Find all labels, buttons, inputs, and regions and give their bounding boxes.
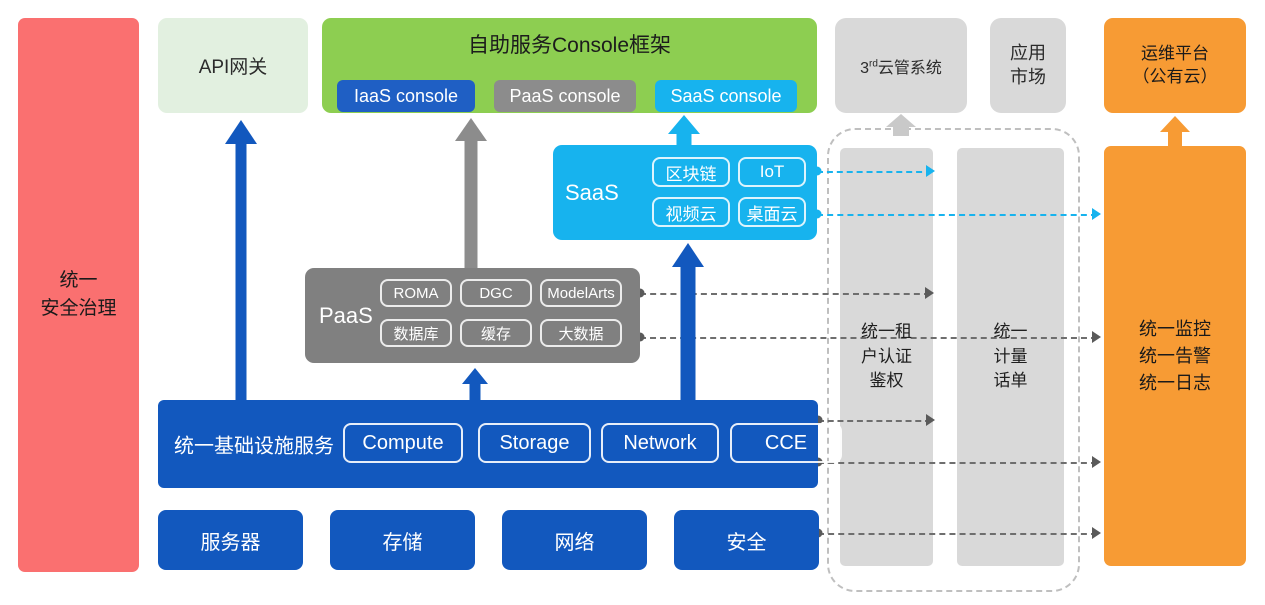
column-auth-line2: 户认证 — [861, 347, 912, 366]
saas-service-desktop-cloud[interactable]: 桌面云 — [738, 197, 806, 227]
paas-service-label: ModelArts — [547, 285, 615, 302]
paas-service-database[interactable]: 数据库 — [380, 319, 452, 347]
infra-service-label: CCE — [765, 432, 807, 455]
resource-tile-label: 网络 — [555, 526, 595, 555]
ops-platform-header-box: 运维平台 （公有云） — [1104, 18, 1246, 113]
app-market-line1: 应用 — [1010, 43, 1046, 63]
saas-service-video-cloud[interactable]: 视频云 — [652, 197, 730, 227]
console-chip-paas[interactable]: PaaS console — [494, 80, 636, 112]
app-market-box: 应用 市场 — [990, 18, 1066, 113]
paas-service-label: 数据库 — [393, 323, 438, 344]
infra-service-label: Storage — [499, 432, 569, 455]
resource-tile-security[interactable]: 安全 — [674, 510, 819, 570]
infra-service-label: Network — [623, 432, 696, 455]
column-meter-line3: 话单 — [994, 371, 1028, 390]
connector-resources-to-ops — [818, 533, 1097, 535]
infra-service-label: Compute — [362, 432, 443, 455]
api-gateway-box: API网关 — [158, 18, 308, 113]
ops-body-text: 统一监控 统一告警 统一日志 — [1139, 316, 1211, 397]
arrow-ops-body-to-head — [1159, 116, 1191, 146]
infra-service-network[interactable]: Network — [601, 423, 719, 463]
console-chip-iaas-label: IaaS console — [354, 86, 458, 107]
saas-service-label: 视频云 — [666, 200, 717, 225]
architecture-diagram: 统一租 户认证 鉴权 统一 计量 话单 — [0, 0, 1265, 605]
resource-tile-storage[interactable]: 存储 — [330, 510, 475, 570]
column-auth-line1: 统一租 — [861, 322, 912, 341]
column-meter-line1: 统一 — [994, 322, 1028, 341]
ops-head-line2: （公有云） — [1133, 67, 1218, 86]
paas-service-label: 大数据 — [558, 323, 603, 344]
paas-service-modelarts[interactable]: ModelArts — [540, 279, 622, 307]
column-meter-text: 统一 计量 话单 — [994, 320, 1028, 394]
saas-service-label: IoT — [760, 162, 785, 182]
resource-tile-network[interactable]: 网络 — [502, 510, 647, 570]
paas-service-label: 缓存 — [481, 323, 511, 344]
connector-saas-to-auth — [817, 171, 932, 173]
saas-service-blockchain[interactable]: 区块链 — [652, 157, 730, 187]
connector-saas-to-ops — [817, 214, 1097, 216]
connector-arrowhead — [1092, 527, 1101, 539]
paas-layer-box: PaaS ROMA DGC ModelArts 数据库 缓存 大数据 — [305, 268, 640, 363]
saas-layer-label: SaaS — [565, 180, 619, 206]
connector-arrowhead — [1092, 331, 1101, 343]
console-chip-paas-label: PaaS console — [509, 86, 620, 107]
infra-service-cce[interactable]: CCE — [730, 423, 842, 463]
saas-service-iot[interactable]: IoT — [738, 157, 806, 187]
console-chip-saas-label: SaaS console — [670, 86, 781, 107]
paas-service-bigdata[interactable]: 大数据 — [540, 319, 622, 347]
resource-tile-label: 存储 — [383, 526, 423, 555]
paas-service-dgc[interactable]: DGC — [460, 279, 532, 307]
security-panel-text: 统一 安全治理 — [40, 267, 116, 322]
connector-infra-to-ops — [818, 462, 1097, 464]
infrastructure-label: 统一基础设施服务 — [174, 430, 334, 459]
arrow-paas-to-console — [455, 118, 487, 270]
third-party-cloud-management-box: 3rd云管系统 — [835, 18, 967, 113]
arrow-infra-to-api-gateway — [225, 120, 257, 402]
saas-service-label: 桌面云 — [747, 200, 798, 225]
unified-infrastructure-service-bar: 统一基础设施服务 Compute Storage Network CCE — [158, 400, 818, 488]
console-chip-saas[interactable]: SaaS console — [655, 80, 797, 112]
column-unified-tenant-auth: 统一租 户认证 鉴权 — [840, 148, 933, 566]
ops-platform-body-panel: 统一监控 统一告警 统一日志 — [1104, 146, 1246, 566]
resource-tile-server[interactable]: 服务器 — [158, 510, 303, 570]
paas-service-label: DGC — [479, 285, 512, 302]
ops-head-text: 运维平台 （公有云） — [1133, 43, 1218, 89]
saas-layer-box: SaaS 区块链 IoT 视频云 桌面云 — [553, 145, 817, 240]
paas-service-roma[interactable]: ROMA — [380, 279, 452, 307]
arrow-saas-to-console — [668, 115, 700, 148]
column-meter-line2: 计量 — [994, 347, 1028, 366]
infra-service-compute[interactable]: Compute — [343, 423, 463, 463]
connector-infra-to-auth — [818, 420, 931, 422]
arrow-infra-to-saas — [672, 243, 704, 403]
console-chip-iaas[interactable]: IaaS console — [337, 80, 475, 112]
ops-body-line1: 统一监控 — [1139, 319, 1211, 339]
ops-body-line3: 统一日志 — [1139, 373, 1211, 393]
connector-arrowhead — [1092, 208, 1101, 220]
arrow-infra-to-paas — [462, 368, 488, 402]
paas-service-label: ROMA — [394, 285, 439, 302]
third-party-prefix: 3 — [860, 60, 869, 77]
api-gateway-label: API网关 — [199, 52, 268, 79]
resource-tile-label: 服务器 — [201, 526, 261, 555]
security-panel-line2: 安全治理 — [40, 298, 116, 319]
connector-arrowhead — [1092, 456, 1101, 468]
column-unified-metering-billing: 统一 计量 话单 — [957, 148, 1064, 566]
console-framework-title: 自助服务Console框架 — [322, 29, 817, 59]
app-market-text: 应用 市场 — [1010, 42, 1046, 89]
connector-arrowhead — [925, 287, 934, 299]
third-party-superscript: rd — [869, 58, 878, 69]
saas-service-label: 区块链 — [666, 160, 717, 185]
column-auth-text: 统一租 户认证 鉴权 — [861, 320, 912, 394]
connector-arrowhead — [926, 165, 935, 177]
unified-security-governance-panel: 统一 安全治理 — [18, 18, 139, 572]
infra-service-storage[interactable]: Storage — [478, 423, 591, 463]
connector-arrowhead — [926, 414, 935, 426]
self-service-console-framework: 自助服务Console框架 IaaS console PaaS console … — [322, 18, 817, 113]
paas-service-cache[interactable]: 缓存 — [460, 319, 532, 347]
arrow-zone-to-thirdparty — [885, 114, 917, 136]
paas-layer-label: PaaS — [319, 303, 373, 329]
security-panel-line1: 统一 — [59, 270, 97, 291]
third-party-label: 3rd云管系统 — [860, 54, 942, 78]
third-party-rest: 云管系统 — [878, 60, 942, 77]
column-auth-line3: 鉴权 — [870, 371, 904, 390]
app-market-line2: 市场 — [1010, 67, 1046, 87]
resource-tile-label: 安全 — [727, 526, 767, 555]
ops-body-line2: 统一告警 — [1139, 346, 1211, 366]
ops-head-line1: 运维平台 — [1141, 44, 1209, 63]
